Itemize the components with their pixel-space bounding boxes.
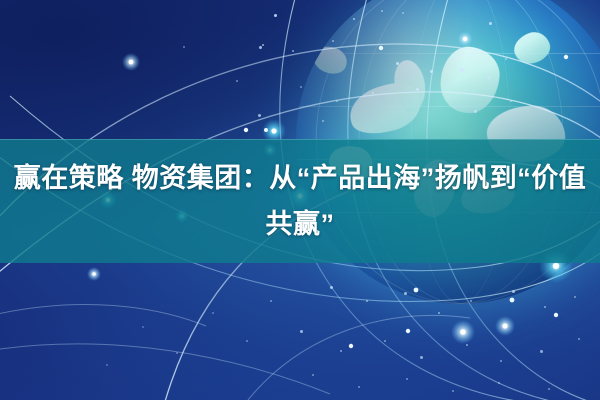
page-title: 赢在策略 物资集团：从“产品出海”扬帆到“价值 共赢” <box>0 139 600 263</box>
title-line-1: 赢在策略 物资集团：从“产品出海”扬帆到“价值 <box>14 155 587 201</box>
title-line-2: 共赢” <box>266 201 335 247</box>
banner-image: 赢在策略 物资集团：从“产品出海”扬帆到“价值 共赢” <box>0 0 600 400</box>
